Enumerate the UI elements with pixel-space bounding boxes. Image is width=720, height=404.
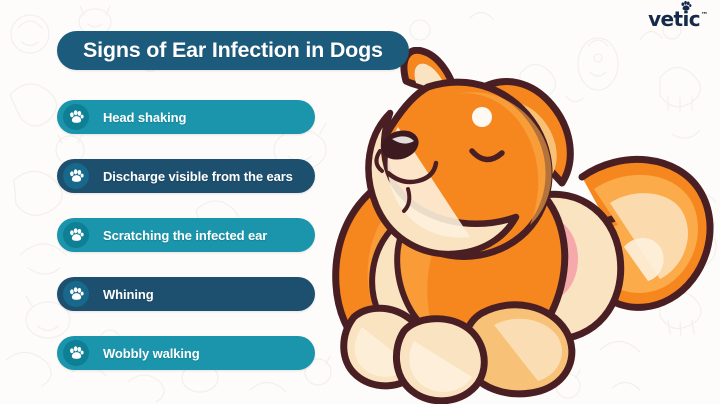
logo-text: vetic [648,7,700,31]
paw-print-icon [63,104,89,130]
infographic-canvas: vetic ™ Signs of Ear Infection in Dogs [0,0,720,404]
paw-print-icon [63,281,89,307]
page-title-pill: Signs of Ear Infection in Dogs [57,31,409,70]
shiba-inu-dog-illustration [332,47,720,404]
trademark-symbol: ™ [701,11,708,19]
logo-wordmark: vetic [648,9,700,29]
list-item[interactable]: Head shaking [57,100,315,134]
paw-print-icon [63,163,89,189]
list-item[interactable]: Discharge visible from the ears [57,159,315,193]
list-item[interactable]: Scratching the infected ear [57,218,315,252]
paw-print-icon [680,1,692,11]
paw-print-icon [63,222,89,248]
list-item-label: Head shaking [103,110,208,125]
list-item[interactable]: Whining [57,277,315,311]
list-item-label: Discharge visible from the ears [103,169,315,184]
list-item[interactable]: Wobbly walking [57,336,315,370]
list-item-label: Scratching the infected ear [103,228,289,243]
list-item-label: Whining [103,287,176,302]
list-item-label: Wobbly walking [103,346,222,361]
page-title: Signs of Ear Infection in Dogs [83,38,383,63]
vetic-logo[interactable]: vetic ™ [648,9,708,29]
symptom-list: Head shaking Discharge visible from the … [57,100,315,395]
paw-print-icon [63,340,89,366]
